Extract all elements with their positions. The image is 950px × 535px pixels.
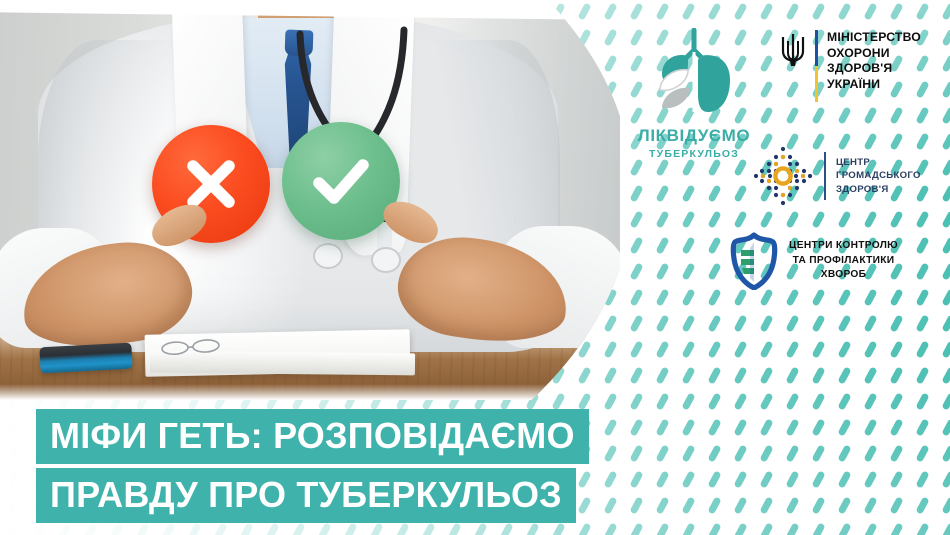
ministry-of-health-logo: МІНІСТЕРСТВО ОХОРОНИ ЗДОРОВ'Я УКРАЇНИ — [780, 30, 921, 102]
phc-line-2: ГРОМАДСЬКОГО — [836, 169, 921, 182]
doctor-photo — [0, 0, 620, 400]
cdc-line-1: ЦЕНТРИ КОНТРОЛЮ — [789, 239, 898, 253]
moz-line-4: УКРАЇНИ — [827, 77, 921, 93]
headline-line-2: ПРАВДУ ПРО ТУБЕРКУЛЬОЗ — [36, 468, 576, 523]
headline-row-2: ПРАВДУ ПРО ТУБЕРКУЛЬОЗ — [36, 468, 589, 523]
moz-text: МІНІСТЕРСТВО ОХОРОНИ ЗДОРОВ'Я УКРАЇНИ — [827, 30, 921, 92]
headline-banner: МІФИ ГЕТЬ: РОЗПОВІДАЄМО ПРАВДУ ПРО ТУБЕР… — [36, 409, 589, 527]
public-health-center-logo: ЦЕНТР ГРОМАДСЬКОГО ЗДОРОВ'Я — [752, 145, 921, 207]
headline-line-1: МІФИ ГЕТЬ: РОЗПОВІДАЄМО — [36, 409, 589, 464]
shield-stripes-icon — [728, 232, 780, 290]
photo-bottom-fade — [0, 384, 620, 400]
true-card-green — [282, 122, 400, 240]
phc-text: ЦЕНТР ГРОМАДСЬКОГО ЗДОРОВ'Я — [836, 156, 921, 196]
moz-flag-divider — [815, 30, 818, 102]
brand-logo: ЛІКВІДУЄМО ТУБЕРКУЛЬОЗ — [614, 28, 774, 160]
disease-control-center-logo: ЦЕНТРИ КОНТРОЛЮ ТА ПРОФІЛАКТИКИ ХВОРОБ — [728, 232, 898, 290]
smartphone — [39, 343, 132, 374]
cdc-text: ЦЕНТРИ КОНТРОЛЮ ТА ПРОФІЛАКТИКИ ХВОРОБ — [789, 239, 898, 282]
moz-line-1: МІНІСТЕРСТВО — [827, 30, 921, 46]
phc-divider — [824, 152, 826, 200]
cdc-line-3: ХВОРОБ — [789, 268, 898, 282]
cdc-line-2: ТА ПРОФІЛАКТИКИ — [789, 254, 898, 268]
moz-line-3: ЗДОРОВ'Я — [827, 61, 921, 77]
check-mark-icon — [303, 143, 379, 219]
lungs-leaf-icon — [644, 28, 744, 120]
brand-subtitle: ТУБЕРКУЛЬОЗ — [614, 148, 774, 160]
poster-canvas: ЛІКВІДУЄМО ТУБЕРКУЛЬОЗ МІНІСТЕРСТВО ОХОР… — [0, 0, 950, 535]
ukraine-trident-icon — [780, 33, 806, 67]
headline-row-1: МІФИ ГЕТЬ: РОЗПОВІДАЄМО — [36, 409, 589, 464]
phc-line-3: ЗДОРОВ'Я — [836, 183, 921, 196]
radial-dots-icon — [752, 145, 814, 207]
brand-title: ЛІКВІДУЄМО — [614, 126, 774, 146]
moz-line-2: ОХОРОНИ — [827, 46, 921, 62]
logo-column: ЛІКВІДУЄМО ТУБЕРКУЛЬОЗ МІНІСТЕРСТВО ОХОР… — [600, 0, 950, 400]
phc-line-1: ЦЕНТР — [836, 156, 921, 169]
